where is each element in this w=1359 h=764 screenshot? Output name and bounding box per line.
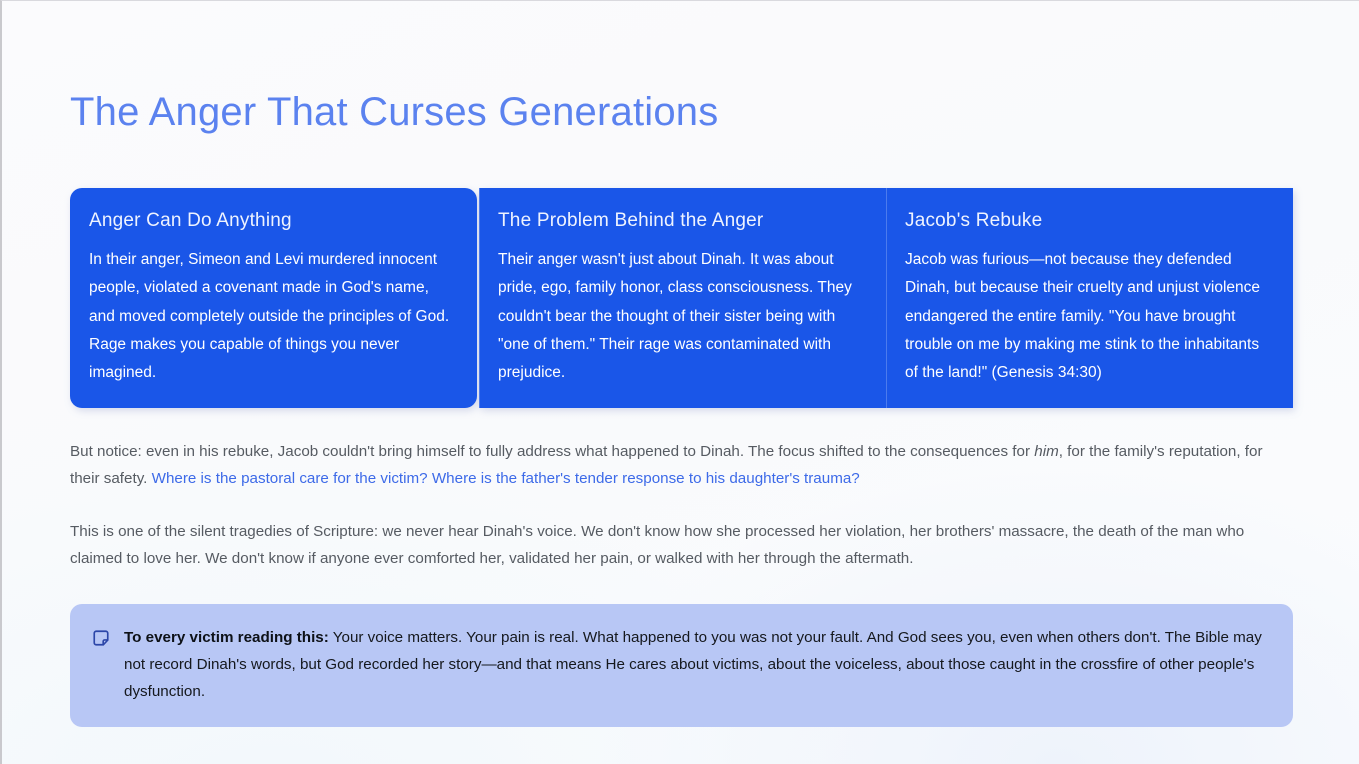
callout-lead: To every victim reading this:	[124, 629, 329, 646]
card-title: Jacob's Rebuke	[905, 210, 1271, 233]
callout-text: To every victim reading this: Your voice…	[124, 624, 1267, 705]
paragraph-emphasis-him: him	[1034, 443, 1058, 460]
callout-to-every-victim: To every victim reading this: Your voice…	[70, 604, 1293, 727]
card-title: The Problem Behind the Anger	[498, 210, 864, 233]
paragraph-highlight-question: Where is the pastoral care for the victi…	[152, 470, 860, 487]
card-title: Anger Can Do Anything	[89, 210, 455, 233]
paragraph-silent-tragedies: This is one of the silent tragedies of S…	[70, 518, 1285, 572]
card-anger-can-do-anything[interactable]: Anger Can Do Anything In their anger, Si…	[70, 188, 477, 408]
paragraph-jacob-rebuke-note: But notice: even in his rebuke, Jacob co…	[70, 438, 1285, 492]
paragraph-text-lead: But notice: even in his rebuke, Jacob co…	[70, 443, 1034, 460]
page-title: The Anger That Curses Generations	[70, 89, 1291, 135]
card-the-problem-behind-the-anger[interactable]: The Problem Behind the Anger Their anger…	[479, 188, 886, 408]
slide-content: The Anger That Curses Generations Anger …	[2, 89, 1359, 727]
card-jacobs-rebuke[interactable]: Jacob's Rebuke Jacob was furious—not bec…	[886, 188, 1293, 408]
card-body: In their anger, Simeon and Levi murdered…	[89, 246, 455, 388]
card-body: Their anger wasn't just about Dinah. It …	[498, 246, 864, 388]
card-body: Jacob was furious—not because they defen…	[905, 246, 1271, 388]
message-square-icon	[92, 629, 110, 647]
cards-row: Anger Can Do Anything In their anger, Si…	[70, 188, 1293, 408]
